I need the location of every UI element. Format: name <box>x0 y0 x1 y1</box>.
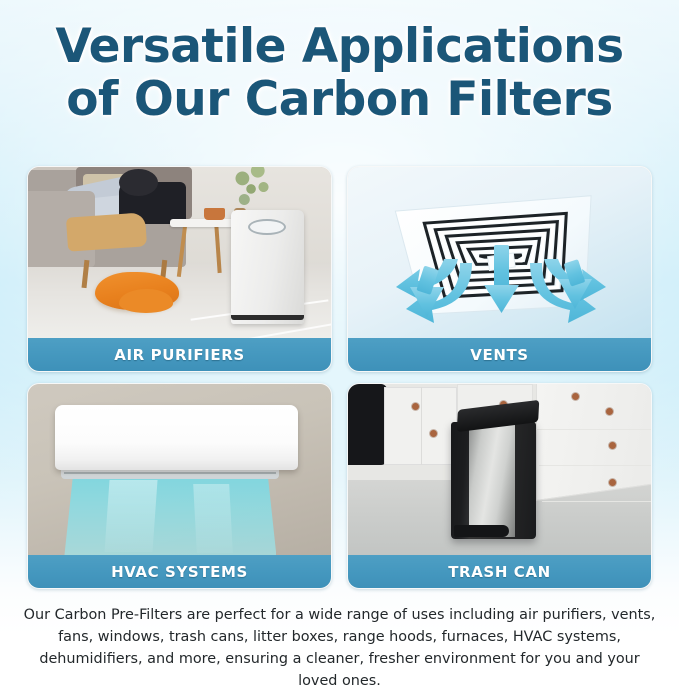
drawer-seam <box>542 501 651 502</box>
trash-can-steel-panel <box>469 424 514 538</box>
page-title: Versatile Applications of Our Carbon Fil… <box>0 20 679 126</box>
ceiling-vent-diagram <box>348 167 651 339</box>
trash-can-photo <box>348 384 651 556</box>
air-purifier-power-button <box>248 219 285 235</box>
kitchen-scene <box>348 384 651 556</box>
coffee-mug <box>204 208 225 220</box>
hvac-photo <box>28 384 331 556</box>
mini-split-scene <box>28 384 331 556</box>
cabinet-seam <box>421 387 422 464</box>
infographic-page: Versatile Applications of Our Carbon Fil… <box>0 0 679 669</box>
drawer-seam <box>539 465 651 466</box>
drawer-knob <box>572 393 579 400</box>
card-label-hvac-systems: HVAC SYSTEMS <box>111 563 248 581</box>
house-plant <box>228 167 276 212</box>
drawer-knob <box>609 479 616 486</box>
card-label-vents: VENTS <box>470 346 528 364</box>
card-label-band-vents: VENTS <box>348 338 651 371</box>
trash-can-foot-pedal <box>454 525 509 537</box>
card-label-band-trash-can: TRASH CAN <box>348 555 651 588</box>
card-trash-can[interactable]: TRASH CAN <box>347 383 652 589</box>
cabinet-knob <box>412 403 419 410</box>
drawer-seam <box>536 429 651 430</box>
card-air-purifiers[interactable]: AIR PURIFIERS <box>27 166 332 372</box>
vent-photo <box>348 167 651 339</box>
application-card-grid: AIR PURIFIERS <box>27 166 652 589</box>
title-line-1: Versatile Applications <box>0 20 679 73</box>
dark-cabinet <box>348 384 387 465</box>
ac-louver <box>64 472 276 474</box>
living-room-scene <box>28 167 331 339</box>
cool-airflow-stream <box>64 477 276 556</box>
throw-blanket <box>66 212 147 252</box>
card-label-air-purifiers: AIR PURIFIERS <box>114 346 245 364</box>
card-label-band-hvac-systems: HVAC SYSTEMS <box>28 555 331 588</box>
air-purifier-photo <box>28 167 331 339</box>
drawer-unit-right <box>536 384 651 501</box>
orange-floor-cushion <box>119 289 174 313</box>
ac-wall-unit <box>55 405 297 470</box>
card-label-trash-can: TRASH CAN <box>448 563 551 581</box>
airflow-highlight <box>104 480 158 552</box>
card-label-band-air-purifiers: AIR PURIFIERS <box>28 338 331 371</box>
drawer-knob <box>606 408 613 415</box>
footer-paragraph: Our Carbon Pre-Filters are perfect for a… <box>22 604 657 692</box>
card-vents[interactable]: VENTS <box>347 166 652 372</box>
card-hvac-systems[interactable]: HVAC SYSTEMS <box>27 383 332 589</box>
ceiling-vent-scene <box>348 167 651 339</box>
air-purifier-base <box>231 315 304 320</box>
title-line-2: of Our Carbon Filters <box>0 73 679 126</box>
airflow-highlight <box>193 484 233 553</box>
